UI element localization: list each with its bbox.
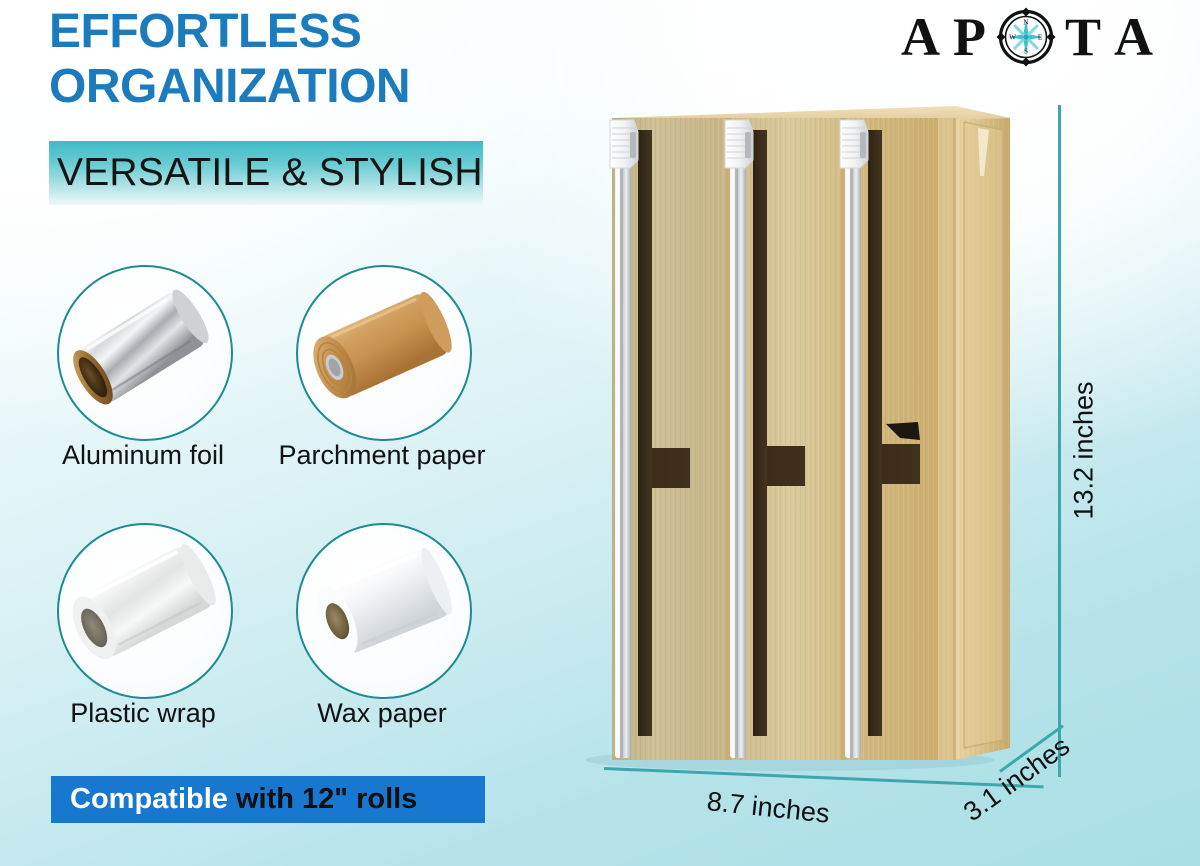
plastic-wrap-roll-icon xyxy=(59,525,231,697)
headline-line-1: EFFORTLESS xyxy=(49,5,361,58)
wax-paper-roll-icon xyxy=(298,525,470,697)
feature-circle-plastic-wrap xyxy=(57,523,233,699)
compatibility-emphasis: Compatible xyxy=(70,783,228,815)
dimension-label-height: 13.2 inches xyxy=(1069,381,1100,519)
brand-logo: A P xyxy=(895,6,1160,68)
feature-label-wax-paper: Wax paper xyxy=(267,698,497,729)
compatibility-rest: with 12" rolls xyxy=(228,783,417,815)
feature-circle-wax-paper xyxy=(296,523,472,699)
parchment-paper-roll-icon xyxy=(298,267,470,439)
compass-label-west: W xyxy=(1009,33,1017,42)
compass-label-east: E xyxy=(1038,33,1043,42)
product-front-face xyxy=(612,118,955,760)
brand-letter-t: T xyxy=(1065,10,1102,64)
brand-letter-a1: A xyxy=(901,10,941,64)
aluminum-foil-roll-icon xyxy=(59,267,231,439)
feature-label-parchment-paper: Parchment paper xyxy=(267,440,497,471)
dimension-line-height xyxy=(1058,105,1061,777)
page-title: EFFORTLESS ORGANIZATION xyxy=(49,4,569,114)
compatibility-banner: Compatible with 12" rolls xyxy=(51,776,485,823)
product-side-face xyxy=(955,106,1010,760)
compass-label-north: N xyxy=(1023,18,1029,27)
subtitle-text: VERSATILE & STYLISH xyxy=(57,150,487,196)
brand-letter-a2: A xyxy=(1114,10,1154,64)
dimension-label-width: 8.7 inches xyxy=(705,786,831,830)
compass-label-south: S xyxy=(1024,47,1028,56)
feature-circle-parchment-paper xyxy=(296,265,472,441)
compass-rose-icon: N S W E xyxy=(995,6,1057,68)
infographic-canvas: EFFORTLESS ORGANIZATION VERSATILE & STYL… xyxy=(0,0,1200,866)
headline-line-2: ORGANIZATION xyxy=(49,59,569,114)
feature-circle-aluminum-foil xyxy=(57,265,233,441)
brand-letter-p: P xyxy=(953,10,987,64)
feature-label-plastic-wrap: Plastic wrap xyxy=(28,698,258,729)
product-image-bamboo-dispenser xyxy=(560,88,1030,778)
feature-label-aluminum-foil: Aluminum foil xyxy=(28,440,258,471)
